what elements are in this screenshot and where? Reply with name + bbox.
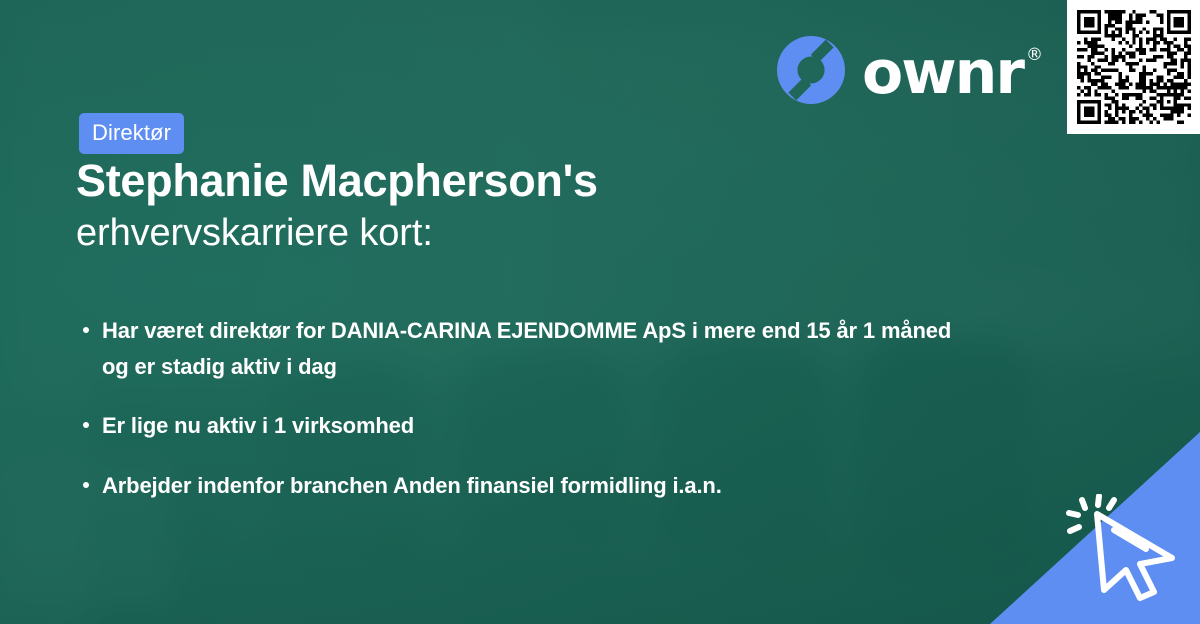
career-facts-list: Har været direktør for DANIA-CARINA EJEN… bbox=[80, 313, 960, 504]
bullet-icon bbox=[83, 422, 89, 428]
ownr-logo[interactable]: ownr ® bbox=[776, 35, 1041, 105]
list-item: Arbejder indenfor branchen Anden finansi… bbox=[80, 468, 960, 504]
list-item-text: Har været direktør for DANIA-CARINA EJEN… bbox=[102, 318, 951, 379]
bullet-icon bbox=[83, 482, 89, 488]
page-title-line1: Stephanie Macpherson's bbox=[76, 157, 976, 206]
list-item-text: Er lige nu aktiv i 1 virksomhed bbox=[102, 413, 414, 438]
role-badge: Direktør bbox=[79, 113, 184, 154]
click-cursor-icon bbox=[1066, 494, 1184, 602]
ownr-swoosh-circle-icon bbox=[776, 35, 846, 105]
list-item: Er lige nu aktiv i 1 virksomhed bbox=[80, 408, 960, 444]
list-item-text: Arbejder indenfor branchen Anden finansi… bbox=[102, 473, 722, 498]
ownr-career-card: ownr ® Direktør Stephanie Macpherson's e… bbox=[0, 0, 1200, 624]
list-item: Har været direktør for DANIA-CARINA EJEN… bbox=[80, 313, 960, 384]
bullet-icon bbox=[83, 327, 89, 333]
page-title-line2: erhvervskarriere kort: bbox=[76, 210, 976, 256]
page-title: Stephanie Macpherson's erhvervskarriere … bbox=[76, 157, 976, 256]
ownr-wordmark: ownr ® bbox=[862, 37, 1041, 103]
registered-trademark-symbol: ® bbox=[1026, 47, 1041, 64]
qr-code[interactable] bbox=[1077, 10, 1191, 124]
ownr-wordmark-text: ownr bbox=[862, 43, 1023, 103]
qr-code-container[interactable] bbox=[1067, 0, 1200, 134]
